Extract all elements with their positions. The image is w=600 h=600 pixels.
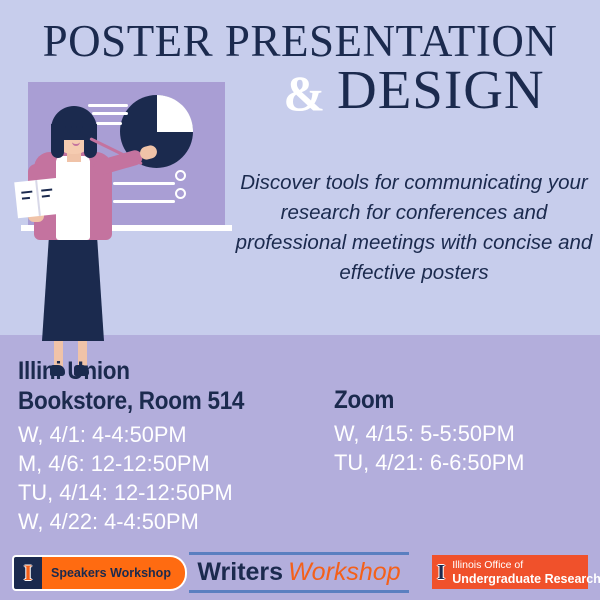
paper-text-line: [41, 188, 52, 191]
venue-line-1: Illini Union: [18, 356, 297, 386]
eye-left: [67, 130, 70, 133]
skirt: [42, 229, 104, 341]
hair-top: [51, 106, 97, 140]
poster: POSTER PRESENTATION &DESIGN Discover too…: [0, 0, 600, 600]
papers-icon: [14, 178, 62, 218]
speakers-workshop-pill: Speakers Workshop: [42, 557, 185, 589]
presenter-figure: [12, 84, 132, 334]
session-item: W, 4/15: 5-5:50PM: [334, 419, 586, 448]
paper-text-line: [42, 195, 50, 198]
logo-speakers-workshop[interactable]: I Speakers Workshop: [12, 555, 187, 591]
schedule-column-illini-union: Illini Union Bookstore, Room 514 W, 4/1:…: [18, 356, 328, 536]
pie-slice-white: [157, 95, 194, 132]
poster-description: Discover tools for communicating your re…: [228, 168, 600, 288]
venue-line-2: Bookstore, Room 514: [18, 386, 297, 416]
title-line-2: &DESIGN: [228, 58, 600, 122]
illinois-block-icon: I: [14, 557, 42, 589]
writers-workshop-wordmark: WritersWorkshop: [189, 558, 409, 587]
title-design-word: DESIGN: [337, 59, 545, 120]
top-shirt: [56, 156, 90, 240]
session-list: W, 4/15: 5-5:50PM TU, 4/21: 6-6:50PM: [334, 419, 594, 477]
session-item: W, 4/22: 4-4:50PM: [18, 507, 319, 536]
venue-line-1: Zoom: [334, 385, 568, 415]
schedule-column-zoom: Zoom W, 4/15: 5-5:50PM TU, 4/21: 6-6:50P…: [334, 385, 594, 477]
paper-text-line: [22, 197, 30, 200]
session-item: M, 4/6: 12-12:50PM: [18, 449, 319, 478]
illinois-i-icon: I: [24, 562, 33, 584]
logo-writers-workshop[interactable]: WritersWorkshop: [189, 552, 409, 593]
eyebrow-left: [65, 126, 72, 128]
logo-undergraduate-research[interactable]: I Illinois Office of Undergraduate Resea…: [432, 555, 588, 589]
illinois-i-icon: I: [437, 562, 445, 583]
session-list: W, 4/1: 4-4:50PM M, 4/6: 12-12:50PM TU, …: [18, 420, 328, 536]
writers-word: Writers: [197, 558, 283, 586]
department-line: Undergraduate Research: [452, 572, 600, 586]
workshop-word: Workshop: [288, 558, 401, 586]
office-line: Illinois Office of: [452, 559, 600, 572]
eyebrow-right: [76, 126, 83, 128]
board-bullet-icon: [175, 170, 186, 181]
presenter-illustration: [28, 82, 225, 232]
session-item: W, 4/1: 4-4:50PM: [18, 420, 319, 449]
paper-text-line: [21, 191, 32, 194]
speakers-workshop-label: Speakers Workshop: [51, 566, 171, 580]
footer-logo-bar: I Speakers Workshop WritersWorkshop I Il…: [0, 548, 600, 600]
session-item: TU, 4/21: 6-6:50PM: [334, 448, 586, 477]
session-item: TU, 4/14: 12-12:50PM: [18, 478, 319, 507]
undergraduate-research-wordmark: Illinois Office of Undergraduate Researc…: [452, 559, 600, 586]
eye-right: [78, 130, 81, 133]
board-bullet-icon: [175, 188, 186, 199]
ampersand-glyph: &: [283, 65, 325, 121]
